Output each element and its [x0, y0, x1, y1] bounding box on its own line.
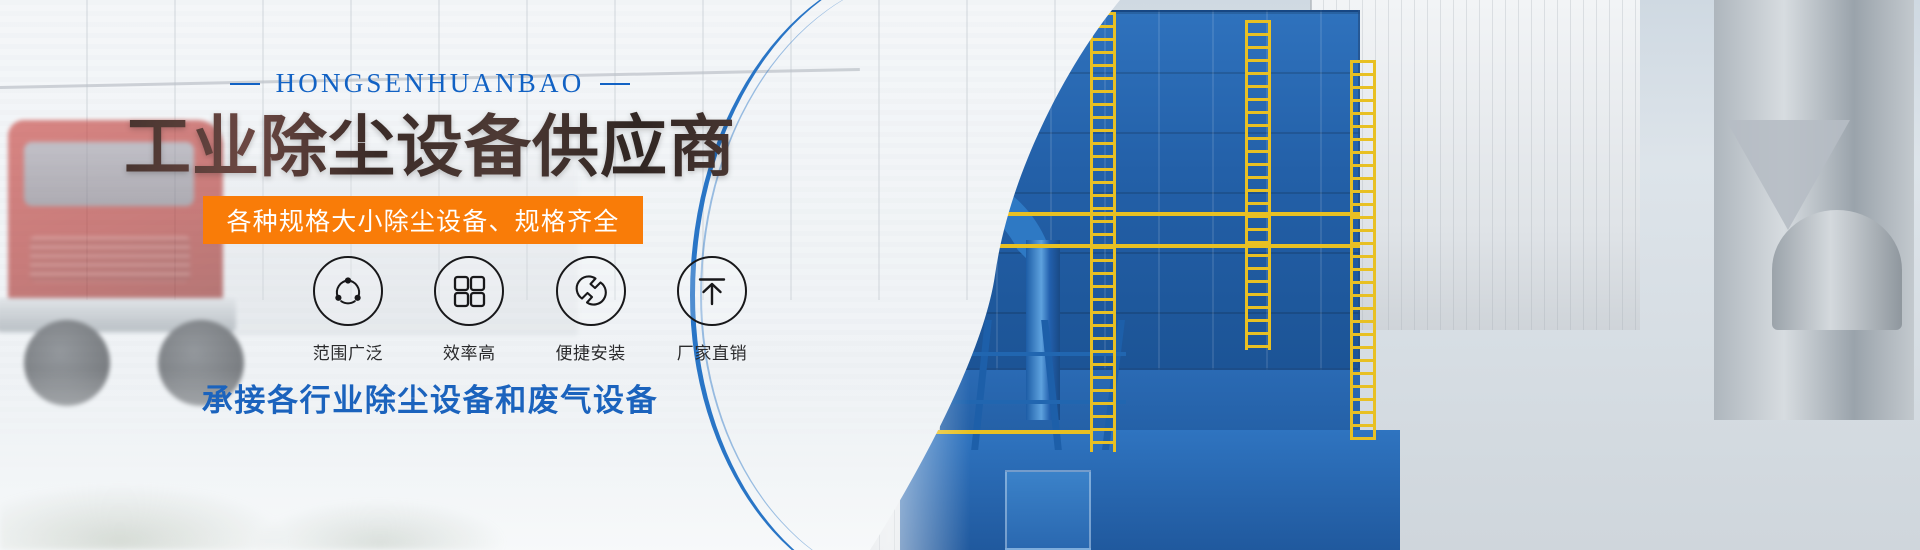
subtitle-text: 各种规格大小除尘设备、规格齐全: [226, 202, 619, 238]
yellow-ladder-2: [1245, 20, 1271, 350]
page-title: 工业除尘设备供应商: [0, 108, 860, 186]
feature-item-direct-sales[interactable]: 厂家直销: [664, 256, 760, 364]
subtitle-highlight-bar: 各种规格大小除尘设备、规格齐全: [203, 196, 643, 244]
feature-label: 厂家直销: [664, 339, 760, 364]
feature-item-efficiency[interactable]: 效率高: [421, 256, 517, 364]
hero-banner: HONGSENHUANBAO 工业除尘设备供应商 各种规格大小除尘设备、规格齐全: [0, 0, 1920, 550]
access-door: [1005, 470, 1091, 550]
hero-tagline: 承接各行业除尘设备和废气设备: [0, 375, 860, 420]
feature-icon-ring: [313, 256, 383, 326]
eyebrow-dash-right: [600, 83, 630, 85]
yellow-handrail-2: [950, 244, 1360, 248]
feature-item-range[interactable]: 范围广泛: [300, 256, 396, 364]
feature-item-installation[interactable]: 便捷安装: [543, 256, 639, 364]
feature-icon-ring: [677, 256, 747, 326]
yellow-ladder-3: [1350, 60, 1376, 440]
feature-list: 范围广泛 效率高: [300, 256, 760, 364]
wrench-icon: [571, 271, 611, 311]
eyebrow-dash-left: [230, 83, 260, 85]
up-arrow-icon: [693, 272, 731, 310]
brand-pinyin-eyebrow: HONGSENHUANBAO: [0, 68, 860, 99]
feature-label: 范围广泛: [300, 339, 396, 364]
yellow-handrail-1: [950, 212, 1360, 216]
eyebrow-text: HONGSENHUANBAO: [276, 68, 585, 99]
hero-content: HONGSENHUANBAO 工业除尘设备供应商 各种规格大小除尘设备、规格齐全: [0, 0, 860, 550]
feature-label: 效率高: [421, 339, 517, 364]
yellow-ladder-1: [1090, 12, 1116, 452]
feature-icon-ring: [556, 256, 626, 326]
feature-icon-ring: [434, 256, 504, 326]
grid-squares-icon: [450, 272, 488, 310]
feature-label: 便捷安装: [543, 339, 639, 364]
round-duct: [1772, 210, 1902, 330]
share-network-icon: [328, 271, 368, 311]
